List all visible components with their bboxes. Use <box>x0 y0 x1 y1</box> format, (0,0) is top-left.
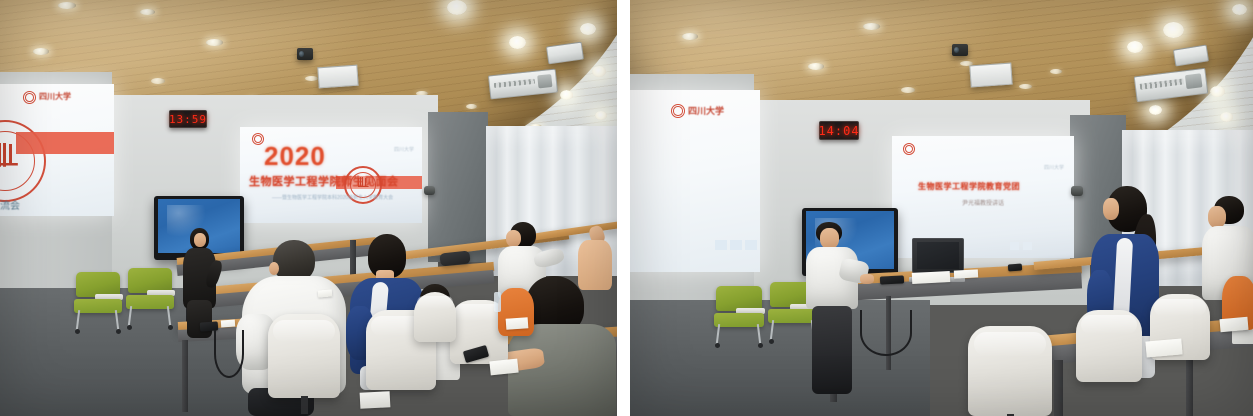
student-face <box>1103 198 1119 220</box>
laptop-lid <box>912 238 964 273</box>
side-screen-bottom-text: 交流会 <box>0 197 20 212</box>
downlight <box>1050 69 1062 74</box>
chair-leg <box>76 310 80 330</box>
downlight <box>863 23 880 30</box>
slide-subtitle: 尹光福教授讲话 <box>962 198 1004 207</box>
attendee-face <box>506 230 521 247</box>
downlight <box>140 9 155 15</box>
chair-back <box>76 272 120 297</box>
chair-lip <box>1081 315 1138 334</box>
water-bottle <box>494 292 501 312</box>
wall-speaker <box>1071 186 1083 196</box>
ceiling-speaker <box>317 65 358 89</box>
downlight-bright <box>580 23 596 35</box>
chair-leg <box>167 306 171 326</box>
ac-grille <box>1140 79 1184 90</box>
photo-pair-sheet: 四川大学 交流会 2020 四川大学 生物医学工程学院师生见面会 ——暨生物医学… <box>0 0 1253 416</box>
phone-on-desk <box>1008 264 1022 272</box>
chair-caster <box>758 343 763 348</box>
notebook-on-desk <box>489 359 518 376</box>
chair-lip <box>273 320 335 342</box>
university-seal-small <box>671 104 685 118</box>
led-clock: 13:59 <box>169 110 207 128</box>
downlight-bright <box>509 36 526 49</box>
chair-lip <box>417 296 453 309</box>
slide-corner-seal <box>903 143 915 155</box>
slide-corner-seal <box>252 133 264 145</box>
chair-leg <box>115 310 119 330</box>
speaker-hand <box>860 274 874 284</box>
left-photo: 四川大学 交流会 2020 四川大学 生物医学工程学院师生见面会 ——暨生物医学… <box>0 0 617 416</box>
cable-under-desk <box>214 330 244 378</box>
left-scene: 四川大学 交流会 2020 四川大学 生物医学工程学院师生见面会 ——暨生物医学… <box>0 0 617 416</box>
downlight <box>808 63 824 70</box>
attendee-face <box>1208 206 1226 228</box>
downlight-bright <box>1232 4 1247 15</box>
chair-leg <box>757 324 761 344</box>
slide-subtitle: ——暨生物医学工程学院本科2020级新生入学教育大会 <box>272 194 393 201</box>
presenter-face <box>194 233 206 247</box>
screen-thumb <box>1023 242 1032 250</box>
downlight-bright <box>447 0 467 15</box>
right-scene: 四川大学 四川大学 生物医学工程学院教育党团 尹光福教授讲话 14:04 <box>630 0 1253 416</box>
downlight <box>305 76 318 81</box>
chair-caster <box>116 329 121 334</box>
green-chair[interactable] <box>714 286 764 348</box>
chair-post <box>301 396 308 414</box>
attendee-ear <box>269 262 279 275</box>
presenter-lower <box>187 300 212 338</box>
slide-title: 生物医学工程学院教育党团 <box>918 181 1020 192</box>
clock-digits: 13:59 <box>169 113 207 126</box>
white-chair[interactable] <box>1076 310 1142 382</box>
downlight-bright <box>1220 112 1233 122</box>
desk-leg <box>182 340 188 412</box>
downlight <box>33 48 49 55</box>
document-stack <box>912 271 951 284</box>
slide-corner-note: 四川大学 <box>1044 164 1064 171</box>
downlight <box>58 2 76 9</box>
laptop-screen <box>917 242 959 269</box>
downlight <box>682 33 698 40</box>
main-projection-screen: 2020 四川大学 生物医学工程学院师生见面会 ——暨生物医学工程学院本科202… <box>240 127 422 223</box>
screen-thumb <box>715 240 727 250</box>
clock-digits: 14:04 <box>818 124 859 138</box>
chair-leg <box>128 306 132 326</box>
projector-lens <box>954 47 959 54</box>
green-chair[interactable] <box>74 272 122 334</box>
white-chair[interactable] <box>414 292 456 342</box>
downlight-bright <box>1149 105 1162 115</box>
paper-on-desk <box>1145 338 1182 357</box>
chair-lip <box>1154 299 1206 316</box>
university-seal-small <box>23 91 36 104</box>
side-screen-logo-text: 四川大学 <box>688 104 724 117</box>
photo-gutter <box>617 0 630 416</box>
downlight <box>466 104 477 109</box>
paper-on-desk <box>360 391 391 409</box>
downlight-bright <box>1163 22 1184 38</box>
downlight-bright <box>560 90 573 100</box>
led-clock: 14:04 <box>819 121 859 140</box>
screen-accent-band <box>16 132 114 154</box>
screen-thumb <box>745 240 757 250</box>
projector-lens <box>299 51 304 58</box>
paper-on-desk <box>506 317 529 330</box>
white-chair[interactable] <box>268 314 340 398</box>
paper-on-desk <box>1219 317 1248 332</box>
right-photo: 四川大学 四川大学 生物医学工程学院教育党团 尹光福教授讲话 14:04 <box>630 0 1253 416</box>
ac-vent <box>537 74 553 88</box>
speaker-trousers <box>812 306 852 394</box>
chair-caster <box>769 339 774 344</box>
chair-leg <box>716 324 720 344</box>
green-chair[interactable] <box>126 268 174 330</box>
downlight <box>1019 84 1032 89</box>
chair-leg <box>770 320 774 340</box>
slide-corner-note: 四川大学 <box>394 146 414 153</box>
wall-speaker <box>424 186 435 195</box>
slide-year: 2020 <box>264 143 326 169</box>
slide-title: 生物医学工程学院师生见面会 <box>249 173 399 189</box>
screen-thumb <box>1010 242 1019 250</box>
speaker-face <box>820 228 839 249</box>
downlight-bright <box>1210 86 1225 97</box>
screen-thumb <box>730 240 742 250</box>
chair-caster <box>75 329 80 334</box>
chair-back <box>716 286 762 311</box>
paper-on-desk <box>318 289 333 297</box>
desk-leg <box>1054 360 1063 416</box>
cable-under-desk <box>860 310 912 356</box>
speaker-man <box>806 222 866 394</box>
downlight <box>206 39 223 46</box>
downlight <box>901 87 915 93</box>
woman-torso <box>508 324 616 416</box>
downlight <box>151 78 165 84</box>
remote-on-desk <box>880 275 904 284</box>
chair-lip <box>974 332 1046 355</box>
side-screen-logo-text: 四川大学 <box>39 91 71 102</box>
paper-on-desk <box>954 269 978 278</box>
ac-vent <box>1185 74 1202 90</box>
downlight-bright <box>592 66 606 77</box>
side-projection-screen: 四川大学 交流会 <box>0 84 114 216</box>
downlight-bright <box>1127 41 1143 53</box>
ac-grille <box>494 78 535 88</box>
chair-caster <box>127 325 132 330</box>
chair-back <box>128 268 172 293</box>
chair-caster <box>168 325 173 330</box>
ceiling-speaker <box>969 63 1012 88</box>
downlight-bright <box>595 111 607 120</box>
white-chair[interactable] <box>968 326 1052 416</box>
chair-caster <box>715 343 720 348</box>
ceiling-projector <box>952 44 968 56</box>
ceiling-projector <box>297 48 313 60</box>
side-projection-screen: 四川大学 <box>630 90 760 272</box>
paper-on-desk <box>221 320 235 328</box>
dark-wall-panel <box>428 112 488 262</box>
